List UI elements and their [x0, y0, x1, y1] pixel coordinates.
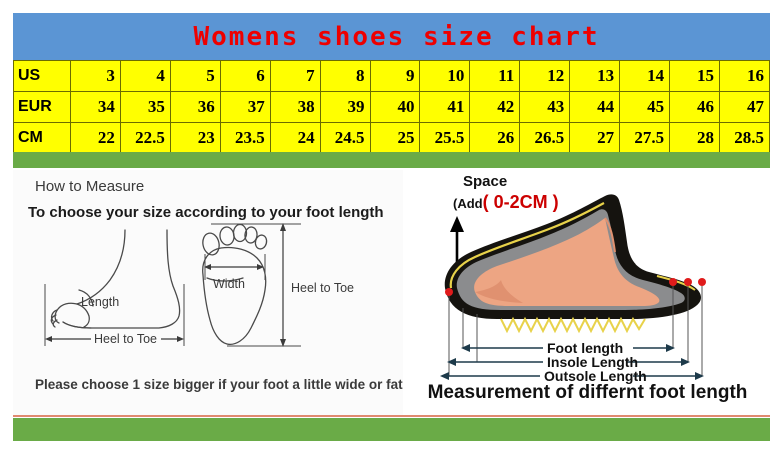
cell-us-13: 16: [719, 61, 769, 92]
cell-eur-6: 40: [370, 92, 420, 123]
cell-us-8: 11: [470, 61, 520, 92]
how-to-measure-panel: How to Measure To choose your size accor…: [13, 170, 403, 415]
measurement-diagram-panel: Space (Add( 0-2CM ): [405, 170, 770, 415]
foot-top-view-diagram: Width Heel to Toe: [183, 220, 358, 355]
cell-eur-7: 41: [420, 92, 470, 123]
cell-cm-13: 28.5: [719, 123, 769, 154]
cell-eur-13: 47: [719, 92, 769, 123]
cell-eur-9: 43: [520, 92, 570, 123]
green-divider-top: [13, 152, 770, 168]
heel-to-toe-label-side: Heel to Toe: [94, 332, 157, 346]
cell-eur-11: 45: [620, 92, 670, 123]
table-row: US 3 4 5 6 7 8 9 10 11 12 13 14 15 16: [14, 61, 770, 92]
cell-us-6: 9: [370, 61, 420, 92]
shoe-foot-illustration: Foot length Insole Length Outsole Length: [405, 176, 770, 386]
cell-cm-7: 25.5: [420, 123, 470, 154]
cell-us-1: 4: [120, 61, 170, 92]
sole-tread: [501, 319, 645, 331]
how-to-measure-heading: How to Measure: [35, 178, 144, 195]
cell-eur-8: 42: [470, 92, 520, 123]
cell-cm-10: 27: [570, 123, 620, 154]
cell-cm-0: 22: [71, 123, 121, 154]
width-label: Width: [213, 277, 245, 291]
green-divider-bottom: [13, 418, 770, 441]
cell-eur-4: 38: [270, 92, 320, 123]
cell-cm-9: 26.5: [520, 123, 570, 154]
cell-cm-5: 24.5: [320, 123, 370, 154]
title-banner: Womens shoes size chart: [13, 13, 770, 60]
size-advice-note: Please choose 1 size bigger if your foot…: [35, 377, 403, 392]
cell-cm-8: 26: [470, 123, 520, 154]
row-label-eur: EUR: [14, 92, 71, 123]
salmon-divider: [13, 415, 770, 417]
cell-us-0: 3: [71, 61, 121, 92]
cell-eur-2: 36: [170, 92, 220, 123]
size-chart-table: US 3 4 5 6 7 8 9 10 11 12 13 14 15 16 EU…: [13, 60, 770, 154]
cell-us-5: 8: [320, 61, 370, 92]
table-row: CM 22 22.5 23 23.5 24 24.5 25 25.5 26 26…: [14, 123, 770, 154]
size-chart-image: Womens shoes size chart US 3 4 5 6 7 8 9…: [0, 0, 783, 456]
cell-eur-5: 39: [320, 92, 370, 123]
cell-us-7: 10: [420, 61, 470, 92]
row-label-cm: CM: [14, 123, 71, 154]
cell-cm-11: 27.5: [620, 123, 670, 154]
page-title: Womens shoes size chart: [13, 13, 770, 60]
length-label: Length: [81, 295, 119, 309]
cell-cm-6: 25: [370, 123, 420, 154]
cell-us-12: 15: [670, 61, 720, 92]
table-body: US 3 4 5 6 7 8 9 10 11 12 13 14 15 16 EU…: [14, 61, 770, 154]
cell-us-9: 12: [520, 61, 570, 92]
cell-eur-1: 35: [120, 92, 170, 123]
cell-eur-10: 44: [570, 92, 620, 123]
heel-to-toe-label-top: Heel to Toe: [291, 281, 354, 295]
cell-us-10: 13: [570, 61, 620, 92]
cell-eur-12: 46: [670, 92, 720, 123]
cell-us-3: 6: [220, 61, 270, 92]
measurement-caption: Measurement of differnt foot length: [405, 382, 770, 404]
cell-us-2: 5: [170, 61, 220, 92]
cell-eur-0: 34: [71, 92, 121, 123]
table-row: EUR 34 35 36 37 38 39 40 41 42 43 44 45 …: [14, 92, 770, 123]
cell-cm-1: 22.5: [120, 123, 170, 154]
cell-cm-4: 24: [270, 123, 320, 154]
cell-us-4: 7: [270, 61, 320, 92]
cell-us-11: 14: [620, 61, 670, 92]
cell-cm-3: 23.5: [220, 123, 270, 154]
cell-cm-12: 28: [670, 123, 720, 154]
row-label-us: US: [14, 61, 71, 92]
choose-size-subheading: To choose your size according to your fo…: [28, 204, 384, 221]
cell-cm-2: 23: [170, 123, 220, 154]
cell-eur-3: 37: [220, 92, 270, 123]
